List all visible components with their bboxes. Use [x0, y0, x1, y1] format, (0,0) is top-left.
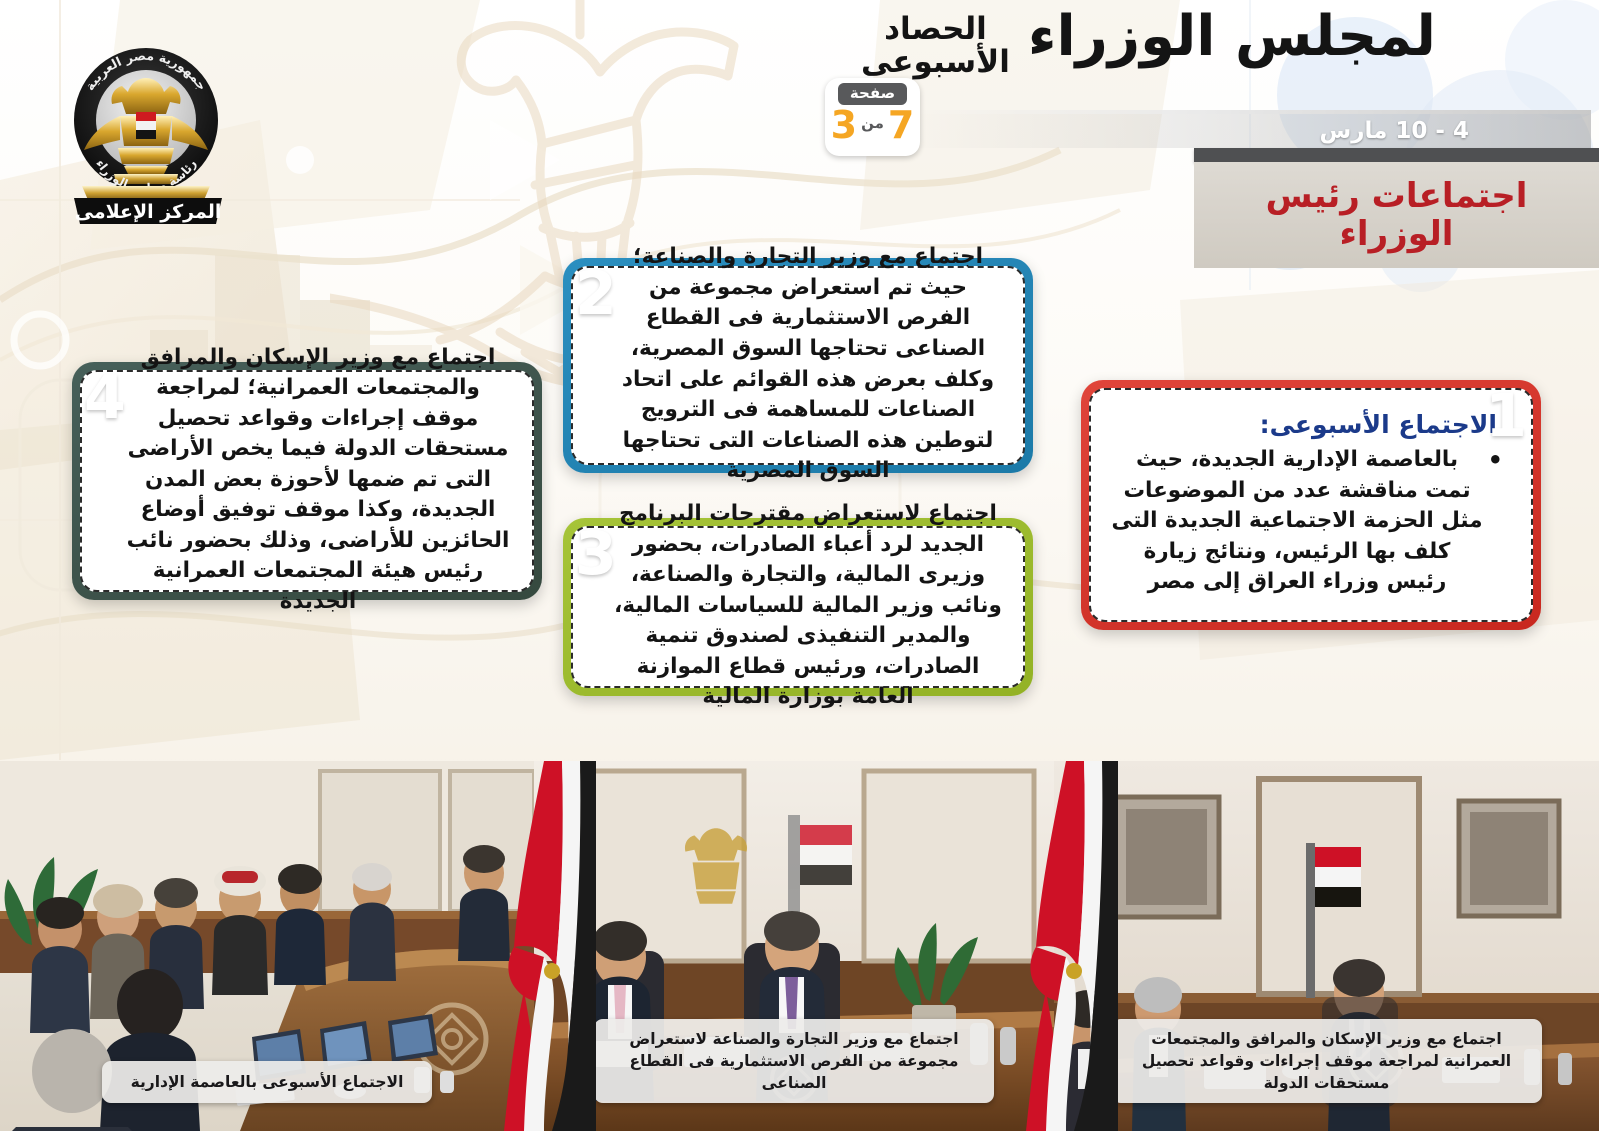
card-2-inner: اجتماع مع وزير التجارة والصناعة؛ حيث تم … — [571, 266, 1025, 465]
page-badge-label: صفحة — [838, 83, 907, 105]
page-title: لمجلس الوزراء — [1028, 8, 1436, 65]
card-number-1: 1 — [1485, 386, 1527, 446]
photo-weekly-cabinet-meeting: الاجتماع الأسبوعى بالعاصمة الإدارية — [0, 761, 534, 1131]
card-number-4: 4 — [84, 368, 126, 428]
section-banner: اجتماعات رئيس الوزراء — [1194, 148, 1599, 268]
card-number-2: 2 — [575, 264, 617, 324]
cabinet-media-center-logo: جمهورية مصر العربية رئاسة مجلس الوزراء ا… — [58, 42, 238, 227]
section-banner-line-1: اجتماعات رئيس — [1266, 177, 1528, 215]
photo-caption-2: اجتماع مع وزير التجارة والصناعة لاستعراض… — [594, 1019, 994, 1103]
infographic-page: جمهورية مصر العربية رئاسة مجلس الوزراء ا… — [0, 0, 1599, 1131]
meeting-card-3: 3 اجتماع لاستعراض مقترحات البرنامج الجدي… — [563, 518, 1033, 696]
photo-caption-1: اجتماع مع وزير الإسكان والمرافق والمجتمع… — [1112, 1019, 1542, 1103]
card-number-3: 3 — [575, 524, 617, 584]
section-banner-cap — [1194, 148, 1599, 162]
card-1-heading: الاجتماع الأسبوعى: — [1111, 410, 1501, 439]
page-subtitle: الحصاد الأسبوعى — [861, 8, 1010, 80]
card-3-text: اجتماع لاستعراض مقترحات البرنامج الجديد … — [613, 499, 1003, 713]
header-title-block: لمجلس الوزراء الحصاد الأسبوعى — [861, 8, 1581, 80]
meeting-card-1: 1 الاجتماع الأسبوعى: بالعاصمة الإدارية ا… — [1081, 380, 1541, 630]
subtitle-line-1: الحصاد — [861, 13, 1010, 46]
page-of-word: من — [861, 114, 884, 136]
svg-text:المركز الإعلامى: المركز الإعلامى — [75, 201, 222, 223]
page-current: 3 — [831, 106, 857, 144]
photo-caption-3: الاجتماع الأسبوعى بالعاصمة الإدارية — [102, 1061, 432, 1103]
photo-trade-meeting: اجتماع مع وزير التجارة والصناعة لاستعراض… — [534, 761, 1054, 1131]
section-banner-line-2: الوزراء — [1266, 215, 1528, 253]
card-1-inner: الاجتماع الأسبوعى: بالعاصمة الإدارية الج… — [1089, 388, 1533, 622]
meeting-card-4: 4 اجتماع مع وزير الإسكان والمرافق والمجت… — [72, 362, 542, 600]
date-range-label: 4 - 10 مارس — [1320, 118, 1469, 144]
photo-housing-meeting: اجتماع مع وزير الإسكان والمرافق والمجتمع… — [1054, 761, 1599, 1131]
page-total: 7 — [888, 106, 914, 144]
subtitle-line-2: الأسبوعى — [861, 46, 1010, 79]
card-2-text: اجتماع مع وزير التجارة والصناعة؛ حيث تم … — [613, 242, 1003, 486]
card-4-text: اجتماع مع وزير الإسكان والمرافق والمجتمع… — [124, 343, 512, 618]
card-4-inner: اجتماع مع وزير الإسكان والمرافق والمجتمع… — [80, 370, 534, 592]
page-badge-numbers: 7 من 3 — [831, 106, 915, 144]
photo-strip: اجتماع مع وزير الإسكان والمرافق والمجتمع… — [0, 761, 1599, 1131]
card-3-inner: اجتماع لاستعراض مقترحات البرنامج الجديد … — [571, 526, 1025, 688]
card-1-text: بالعاصمة الإدارية الجديدة، حيث تمت مناقش… — [1111, 445, 1501, 598]
page-number-badge: صفحة 7 من 3 — [825, 78, 920, 156]
meeting-card-2: 2 اجتماع مع وزير التجارة والصناعة؛ حيث ت… — [563, 258, 1033, 473]
section-banner-body: اجتماعات رئيس الوزراء — [1194, 162, 1599, 268]
date-bar — [901, 114, 1591, 148]
